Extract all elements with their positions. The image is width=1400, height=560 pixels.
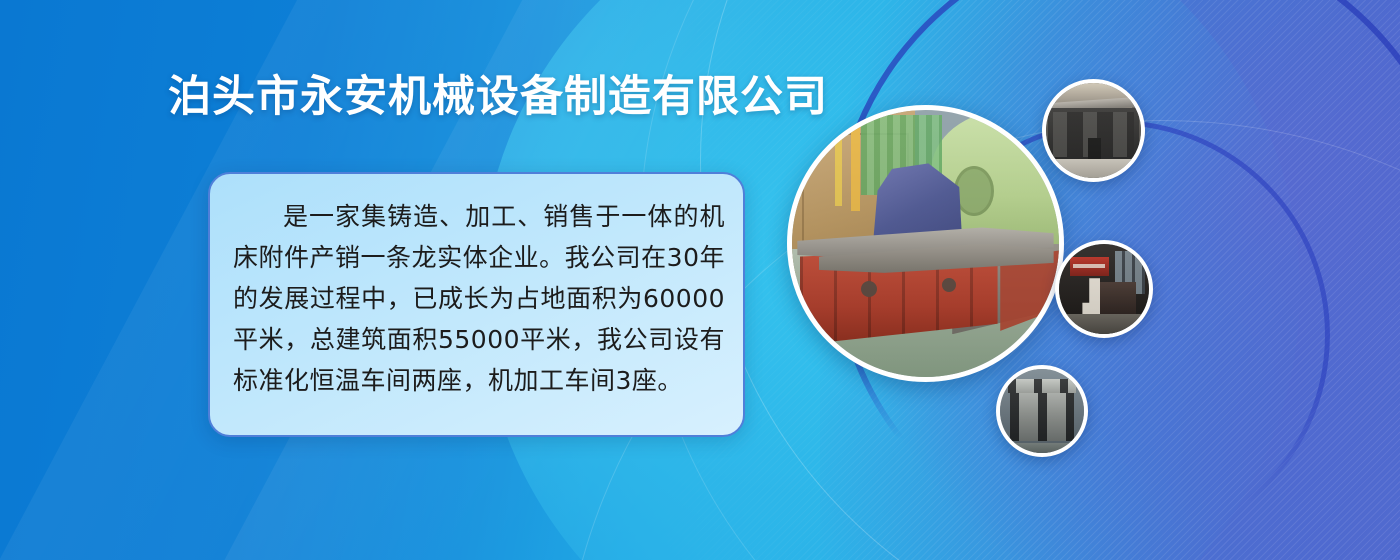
company-banner: 泊头市永安机械设备制造有限公司 是一家集铸造、加工、销售于一体的机床附件产销一条… — [0, 0, 1400, 560]
machine-bed-workshop-photo — [787, 105, 1064, 382]
photo-tint-overlay — [1046, 83, 1141, 178]
company-title: 泊头市永安机械设备制造有限公司 — [168, 74, 828, 121]
company-intro-text: 是一家集铸造、加工、销售于一体的机床附件产销一条龙实体企业。我公司在30年的发展… — [233, 196, 725, 401]
casting-base-photo — [1042, 79, 1145, 182]
company-intro-card: 是一家集铸造、加工、销售于一体的机床附件产销一条龙实体企业。我公司在30年的发展… — [208, 172, 745, 437]
photo-tint-overlay — [1000, 369, 1084, 453]
photo-tint-overlay — [1059, 244, 1149, 334]
grey-castings-photo — [996, 365, 1088, 457]
photo-tint-overlay — [792, 110, 1059, 377]
workshop-interior-photo — [1055, 240, 1153, 338]
